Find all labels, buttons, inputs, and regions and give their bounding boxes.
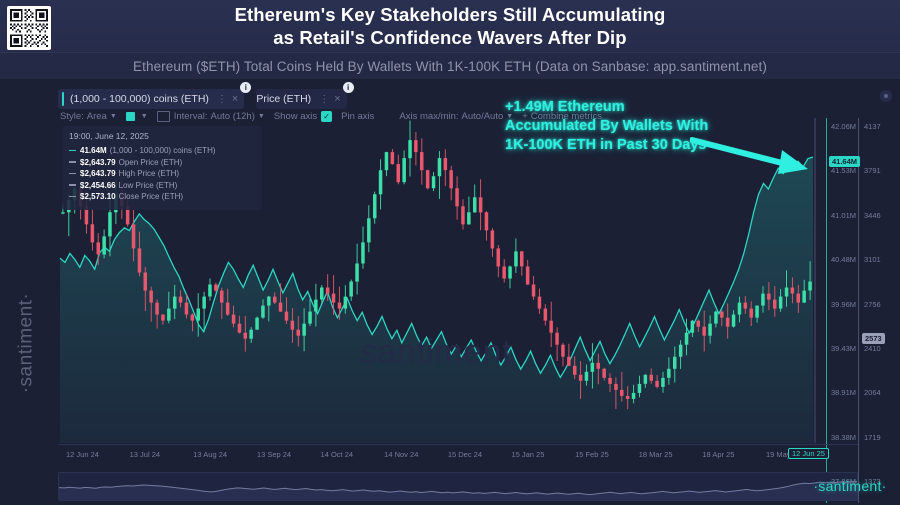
- pin-axis-setting[interactable]: Pin axis: [341, 111, 374, 122]
- axis-minmax-setting[interactable]: Axis max/min: Auto/Auto ▼: [399, 111, 513, 122]
- header-banner: Ethereum's Key Stakeholders Still Accumu…: [0, 0, 900, 52]
- interval-setting-label: Interval:: [174, 111, 208, 122]
- y-axis-coins-current-value: 41.64M: [829, 156, 860, 167]
- x-axis-tick: 14 Oct 24: [321, 450, 354, 459]
- chart-tooltip: 19:00, June 12, 2025 41.64M (1,000 - 100…: [62, 126, 262, 210]
- y-axis-coins-tick: 38.91M: [831, 388, 856, 397]
- x-axis[interactable]: 12 Jun 2413 Jul 2413 Aug 2413 Sep 2414 O…: [58, 448, 858, 464]
- x-axis-tick: 14 Nov 24: [384, 450, 418, 459]
- side-watermark-text: ·santiment·: [15, 293, 37, 394]
- y-axis-price-tick: 2410: [864, 344, 881, 353]
- annotation-line3: 1K-100K ETH in Past 30 Days: [505, 136, 708, 155]
- style-setting-value: Area: [87, 111, 107, 122]
- y-axis-coins[interactable]: 42.06M41.53M41.01M40.48M39.96M39.43M38.9…: [828, 118, 860, 503]
- y-axis-price-tick: 1719: [864, 433, 881, 442]
- tooltip-name: High Price (ETH): [119, 169, 179, 178]
- subtitle-bar: Ethereum ($ETH) Total Coins Held By Wall…: [0, 52, 900, 79]
- x-axis-tick: 13 Aug 24: [193, 450, 227, 459]
- left-axis-line: [826, 118, 827, 503]
- qr-code-icon: [7, 6, 51, 50]
- color-swatch-icon: [126, 112, 135, 121]
- y-axis-price[interactable]: 4137379134463101275624102064171913732573: [860, 118, 898, 503]
- x-axis-tick: 15 Jan 25: [511, 450, 544, 459]
- tooltip-row: $2,643.79 Open Price (ETH): [69, 158, 255, 167]
- x-axis-tick: 13 Jul 24: [130, 450, 160, 459]
- x-axis-tick: 18 Mar 25: [639, 450, 673, 459]
- y-axis-price-tick: 2064: [864, 388, 881, 397]
- annotation-callout: +1.49M Ethereum Accumulated By Wallets W…: [505, 98, 708, 155]
- metric-chip-coins[interactable]: (1,000 - 100,000) coins (ETH) ⋮ × i: [58, 89, 244, 109]
- tooltip-marker-icon: [69, 184, 76, 186]
- color-swatch-setting[interactable]: ▼: [126, 112, 148, 121]
- tooltip-value: $2,643.79: [80, 158, 116, 167]
- tooltip-name: Low Price (ETH): [119, 181, 178, 190]
- y-axis-price-tick: 2756: [864, 300, 881, 309]
- page-title-line2: as Retail's Confidence Wavers After Dip: [273, 26, 626, 49]
- interval-chevron-down-icon[interactable]: ▼: [258, 113, 265, 120]
- tooltip-row: $2,454.66 Low Price (ETH): [69, 181, 255, 190]
- y-axis-price-tick: 3101: [864, 255, 881, 264]
- tooltip-name: (1,000 - 100,000) coins (ETH): [110, 146, 216, 155]
- metric-chip-price-label: Price (ETH): [256, 93, 311, 105]
- tooltip-marker-icon: [69, 161, 76, 163]
- tooltip-value: $2,573.10: [80, 192, 116, 201]
- y-axis-price-tick: 3446: [864, 211, 881, 220]
- x-axis-tick: 13 Sep 24: [257, 450, 291, 459]
- annotation-line1: +1.49M Ethereum: [505, 98, 708, 117]
- pin-axis-label: Pin axis: [341, 111, 374, 122]
- style-chevron-down-icon[interactable]: ▼: [110, 113, 117, 120]
- tooltip-row: $2,643.79 High Price (ETH): [69, 169, 255, 178]
- subtitle-text: Ethereum ($ETH) Total Coins Held By Wall…: [133, 59, 767, 74]
- show-axis-setting[interactable]: Show axis ✓: [274, 111, 332, 122]
- side-watermark: ·santiment·: [0, 228, 52, 458]
- x-axis-tick: 15 Feb 25: [575, 450, 609, 459]
- metric-chip-coins-close-icon[interactable]: ×: [232, 93, 238, 105]
- tooltip-value: $2,643.79: [80, 169, 116, 178]
- axis-minmax-value: Auto/Auto: [462, 111, 504, 122]
- metric-chip-price-info-icon[interactable]: i: [343, 82, 354, 93]
- x-axis-tick: 15 Dec 24: [448, 450, 482, 459]
- metric-chip-coins-label: (1,000 - 100,000) coins (ETH): [70, 93, 209, 105]
- calendar-icon: [157, 111, 170, 122]
- metric-chip-price-menu-icon[interactable]: ⋮: [319, 94, 329, 105]
- tooltip-name: Open Price (ETH): [119, 158, 183, 167]
- page-title-line1: Ethereum's Key Stakeholders Still Accumu…: [235, 3, 666, 26]
- tooltip-row: $2,573.10 Close Price (ETH): [69, 192, 255, 201]
- x-axis-tick: 12 Jun 24: [66, 450, 99, 459]
- y-axis-coins-tick: 39.43M: [831, 344, 856, 353]
- color-chevron-down-icon[interactable]: ▼: [141, 113, 148, 120]
- tooltip-marker-icon: [69, 173, 76, 175]
- y-axis-coins-tick: 41.01M: [831, 211, 856, 220]
- chart-navigator[interactable]: [58, 472, 858, 501]
- metric-chip-row: (1,000 - 100,000) coins (ETH) ⋮ × i Pric…: [58, 88, 347, 110]
- axis-minmax-label: Axis max/min:: [399, 111, 458, 122]
- metric-color-bar: [62, 92, 64, 106]
- tooltip-value: 41.64M: [80, 146, 107, 155]
- tooltip-marker-icon: [69, 196, 76, 198]
- y-axis-price-tick: 3791: [864, 166, 881, 175]
- annotation-arrow-icon: [690, 136, 820, 183]
- metric-chip-price[interactable]: Price (ETH) ⋮ × i: [256, 89, 346, 109]
- x-axis-line: [58, 444, 858, 445]
- interval-setting-value: Auto (12h): [211, 111, 255, 122]
- tooltip-marker-icon: [69, 150, 76, 152]
- chart-options-button[interactable]: [880, 90, 892, 102]
- tooltip-value: $2,454.66: [80, 181, 116, 190]
- metric-chip-coins-info-icon[interactable]: i: [240, 82, 251, 93]
- x-axis-tick: 18 Apr 25: [702, 450, 734, 459]
- chart-application: ·santiment· (1,000 - 100,000) coins (ETH…: [0, 78, 900, 505]
- x-axis-current-date: 12 Jun 25: [788, 448, 829, 459]
- metric-chip-price-close-icon[interactable]: ×: [334, 93, 340, 105]
- interval-setting[interactable]: Interval: Auto (12h) ▼: [157, 111, 265, 122]
- tooltip-row: 41.64M (1,000 - 100,000) coins (ETH): [69, 146, 255, 155]
- footer-logo: ·santiment·: [806, 477, 894, 495]
- show-axis-checkbox[interactable]: ✓: [321, 111, 332, 122]
- metric-chip-coins-menu-icon[interactable]: ⋮: [217, 94, 227, 105]
- show-axis-label: Show axis: [274, 111, 317, 122]
- style-setting-label: Style:: [60, 111, 84, 122]
- y-axis-coins-tick: 41.53M: [831, 166, 856, 175]
- y-axis-coins-tick: 40.48M: [831, 255, 856, 264]
- y-axis-price-tick: 4137: [864, 122, 881, 131]
- style-setting[interactable]: Style: Area ▼: [60, 111, 117, 122]
- y-axis-coins-tick: 42.06M: [831, 122, 856, 131]
- y-axis-price-current-value: 2573: [862, 333, 885, 344]
- y-axis-coins-tick: 38.38M: [831, 433, 856, 442]
- tooltip-date: 19:00, June 12, 2025: [69, 131, 255, 141]
- annotation-line2: Accumulated By Wallets With: [505, 117, 708, 136]
- y-axis-coins-tick: 39.96M: [831, 300, 856, 309]
- tooltip-name: Close Price (ETH): [119, 192, 183, 201]
